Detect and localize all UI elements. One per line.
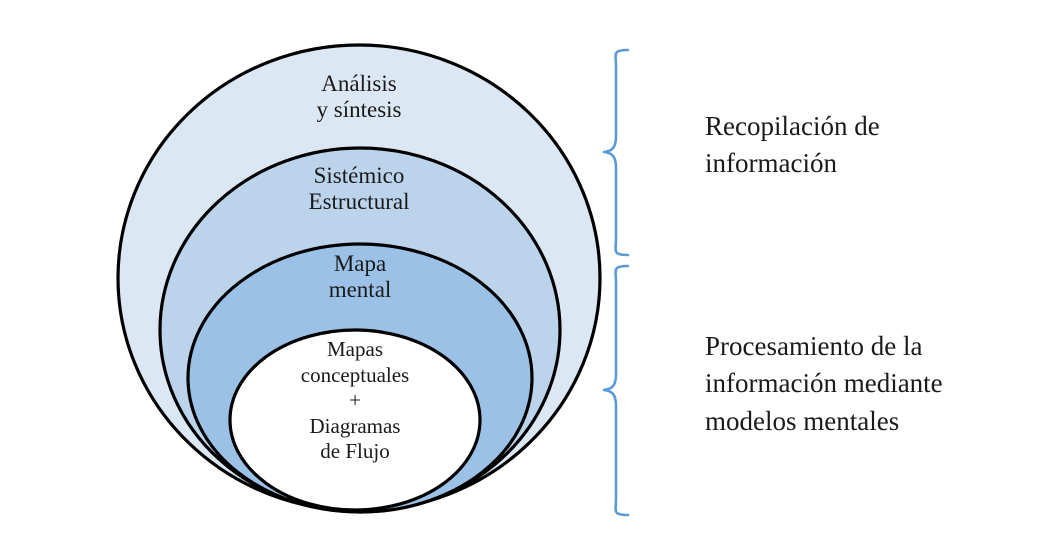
diagram-canvas: Análisis y síntesis Sistémico Estructura… (0, 0, 1047, 559)
brace-bottom-shape (604, 266, 628, 515)
brace-bottom-caption: Procesamiento de la información mediante… (705, 328, 1035, 440)
brace-top-caption: Recopilación de información (705, 108, 1025, 183)
brace-top-shape (604, 50, 628, 255)
ring-4-shape (230, 330, 480, 510)
concentric-circles-diagram (0, 0, 1047, 559)
